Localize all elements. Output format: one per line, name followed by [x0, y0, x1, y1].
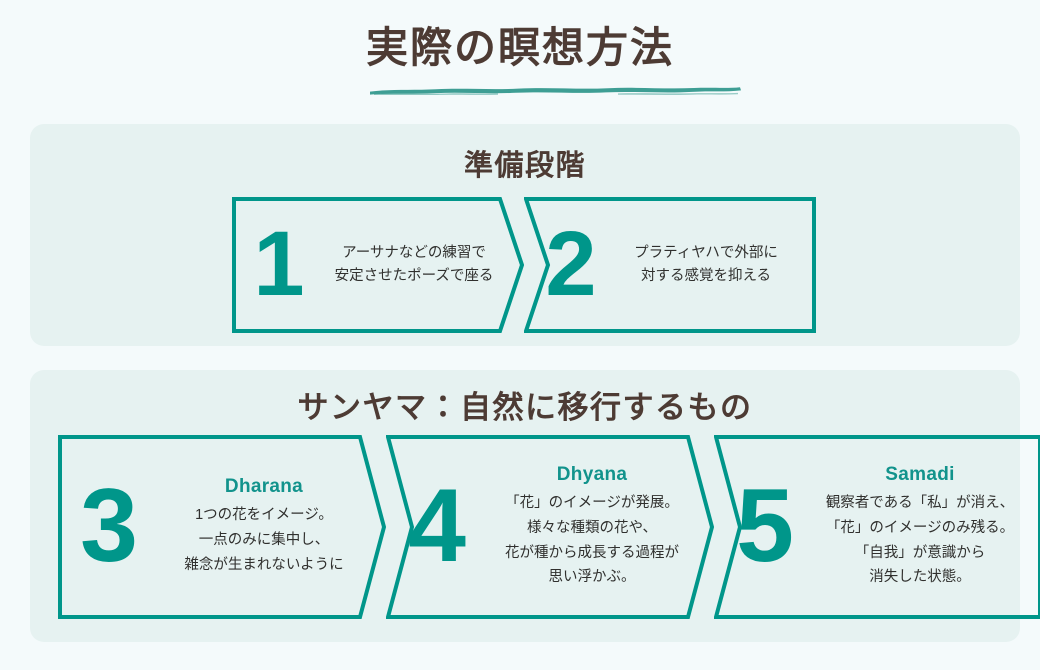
step-description-5: 観察者である「私」が消え、 「花」のイメージのみ残る。 「自我」が意識から 消失… — [808, 491, 1032, 591]
step-card-2[interactable]: 2 プラティヤハで外部に 対する感覚を抑える — [524, 197, 816, 333]
step-card-1[interactable]: 1 アーサナなどの練習で 安定させたポーズで座る — [232, 197, 524, 333]
step-card-3[interactable]: 3 Dharana 1つの花をイメージ。 一点のみに集中し、 雑念が生まれないよ… — [58, 435, 386, 619]
section-preparation-heading: 準備段階 — [30, 142, 1020, 184]
samyama-steps-row: 3 Dharana 1つの花をイメージ。 一点のみに集中し、 雑念が生まれないよ… — [58, 435, 1040, 619]
preparation-steps-row: 1 アーサナなどの練習で 安定させたポーズで座る 2 プラティヤハで外部に 対す… — [232, 197, 816, 333]
page-title: 実際の瞑想方法 — [0, 24, 1040, 72]
step-number-1: 1 — [248, 227, 310, 302]
step-description-2: プラティヤハで外部に 対する感覚を抑える — [608, 242, 804, 289]
section-samyama: サンヤマ：自然に移行するもの 3 Dharana 1つの花をイメージ。 一点のみ… — [30, 370, 1020, 642]
step-description-3: 1つの花をイメージ。 一点のみに集中し、 雑念が生まれないように — [152, 503, 376, 578]
step-label-4: Dhyana — [480, 464, 704, 486]
step-card-4[interactable]: 4 Dhyana 「花」のイメージが発展。 様々な種類の花や、 花が種から成長す… — [386, 435, 714, 619]
section-samyama-heading: サンヤマ：自然に移行するもの — [30, 382, 1020, 427]
step-description-4: 「花」のイメージが発展。 様々な種類の花や、 花が種から成長する過程が 思い浮か… — [480, 491, 704, 591]
step-number-4: 4 — [400, 484, 474, 569]
step-number-2: 2 — [540, 227, 602, 302]
step-card-5[interactable]: 5 Samadi 観察者である「私」が消え、 「花」のイメージのみ残る。 「自我… — [714, 435, 1040, 619]
step-label-5: Samadi — [808, 464, 1032, 486]
step-number-5: 5 — [728, 484, 802, 569]
step-label-3: Dharana — [152, 476, 376, 498]
page-title-text: 実際の瞑想方法 — [360, 24, 680, 72]
step-description-1: アーサナなどの練習で 安定させたポーズで座る — [316, 242, 512, 289]
page-title-label: 実際の瞑想方法 — [366, 24, 674, 71]
brush-stroke-underline-icon — [368, 84, 742, 95]
step-number-3: 3 — [72, 484, 146, 569]
section-preparation: 準備段階 1 アーサナなどの練習で 安定させたポーズで座る 2 プラティヤハで — [30, 124, 1020, 346]
